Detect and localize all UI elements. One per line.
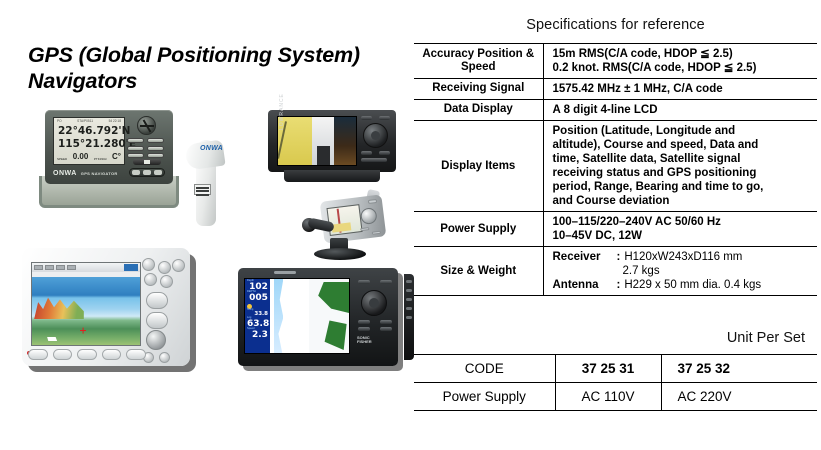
readout-1-value: 005 — [247, 294, 269, 303]
product-image-panel: GPS (Global Positioning System) Navigato… — [0, 0, 410, 450]
lcd-status-right: 54 22:18 — [109, 119, 121, 123]
table-row: Power Supply 100–115/220–240V AC 50/60 H… — [414, 212, 817, 247]
table-row: Data Display A 8 digit 4-line LCD — [414, 100, 817, 121]
mfd-screen — [31, 262, 141, 346]
display-items-line-1: Position (Latitude, Longitude and — [553, 124, 813, 138]
table-row: Receiving Signal 1575.42 MHz ± 1 MHz, C/… — [414, 79, 817, 100]
specifications-heading: Specifications for reference — [410, 17, 821, 33]
spec-value-power-supply: 100–115/220–240V AC 50/60 Hz 10–45V DC, … — [543, 212, 817, 247]
accuracy-line-2: 0.2 knot. RMS(C/A code, HDOP ≦ 2.5) — [553, 61, 813, 75]
receiver-value: H120xW243xD116 mm — [624, 250, 742, 264]
code-value-220v: 37 25 32 — [661, 355, 817, 383]
size-weight-receiver: Receiver : H120xW243xD116 mm — [553, 250, 813, 264]
fishfinder-bezel-tab — [274, 271, 296, 274]
mfd-terrain-relief — [34, 293, 84, 319]
lcd-course-value: C° — [112, 152, 121, 161]
lcd-status-row: PO STA/P0511 54 22:18 — [57, 119, 121, 123]
antenna-colon: : — [615, 278, 625, 292]
display-items-line-2: altitude), Course and speed, Data and — [553, 138, 813, 152]
spec-label-data-display: Data Display — [414, 100, 543, 121]
handheld-rocker-icon — [360, 207, 378, 225]
product-image-multifunction-display — [22, 248, 200, 376]
keypad-slider — [133, 159, 161, 165]
keypad-buttons — [127, 138, 167, 158]
lcd-speed-value: 0.00 — [73, 152, 89, 161]
chartplotter-keypad — [359, 115, 392, 167]
mfd-waypoint-marker-icon — [80, 327, 86, 333]
lcd-bottom-row: SPEED 0.00 PTK330d C° — [57, 152, 121, 161]
readout-4-value: 2.3 — [247, 331, 269, 340]
spec-value-size-weight: Receiver : H120xW243xD116 mm 2.7 kgs Ant… — [543, 247, 817, 296]
spec-label-display-items: Display Items — [414, 121, 543, 212]
size-weight-antenna: Antenna : H229 x 50 mm dia. 0.4 kgs — [553, 278, 813, 292]
spec-label-power-supply: Power Supply — [414, 212, 543, 247]
fishfinder-brand-label: SONICFISHER — [357, 336, 372, 345]
product-image-onwa-gps-receiver: PO STA/P0511 54 22:18 22°46.792'N 115°21… — [33, 108, 185, 213]
receiver-body: PO STA/P0511 54 22:18 22°46.792'N 115°21… — [45, 110, 173, 184]
fishfinder-keypad: SONICFISHER — [353, 276, 393, 360]
antenna-brand-label: ONWA — [200, 145, 223, 152]
mfd-chart-view — [32, 277, 140, 346]
code-value-110v: 37 25 31 — [555, 355, 661, 383]
fishfinder-data-column: Depth 102 DEPTH 005 Temp 33.8 Log 63.8 S… — [245, 279, 270, 353]
dpad-icon — [363, 123, 388, 148]
product-image-chartplotter: LOWRANCE — [268, 110, 396, 188]
chartplotter-base — [284, 170, 380, 182]
spec-value-display-items: Position (Latitude, Longitude and altitu… — [543, 121, 817, 212]
lcd-speed-label: SPEED — [57, 157, 67, 161]
lcd-status-mid: STA/P0511 — [77, 119, 93, 123]
power-supply-110v: AC 110V — [555, 383, 661, 411]
lcd-latitude: 22°46.792'N — [58, 125, 121, 137]
fishfinder-shell: Depth 102 DEPTH 005 Temp 33.8 Log 63.8 S… — [238, 268, 398, 366]
table-row: CODE 37 25 31 37 25 32 — [414, 355, 817, 383]
spec-label-size-weight: Size & Weight — [414, 247, 543, 296]
table-row: Size & Weight Receiver : H120xW243xD116 … — [414, 247, 817, 296]
spec-value-data-display: A 8 digit 4-line LCD — [543, 100, 817, 121]
receiver-weight: 2.7 kgs — [553, 264, 813, 278]
spec-sheet-page: GPS (Global Positioning System) Navigato… — [0, 0, 821, 450]
chartplotter-shell: LOWRANCE — [268, 110, 396, 172]
fishfinder-map-view — [309, 279, 349, 353]
receiver-key: Receiver — [553, 250, 615, 264]
table-row: Accuracy Position & Speed 15m RMS(C/A co… — [414, 44, 817, 79]
receiver-lcd-screen: PO STA/P0511 54 22:18 22°46.792'N 115°21… — [53, 117, 125, 165]
power-supply-line-2: 10–45V DC, 12W — [553, 229, 813, 243]
radar-pane — [312, 117, 334, 165]
antenna-label-plate — [194, 184, 211, 195]
product-image-gps-antenna: ONWA — [180, 140, 228, 228]
display-items-line-3: time, Satellite data, Satellite signal — [553, 152, 813, 166]
mfd-softkey-row — [28, 349, 146, 363]
brand-sublabel: GPS NAVIGATOR — [81, 171, 118, 176]
power-supply-line-1: 100–115/220–240V AC 50/60 Hz — [553, 215, 813, 229]
display-items-line-5: period, Range, Bearing and time to go, — [553, 180, 813, 194]
chartplotter-screen — [277, 116, 357, 166]
sonar-pane — [334, 117, 356, 165]
specifications-table: Accuracy Position & Speed 15m RMS(C/A co… — [414, 43, 817, 296]
fishfinder-sonar-view — [270, 279, 310, 353]
mfd-rotary-dial-icon — [146, 330, 166, 350]
unit-per-set-label: Unit Per Set — [727, 330, 805, 346]
codes-row-label-power-supply: Power Supply — [414, 383, 555, 411]
power-supply-220v: AC 220V — [661, 383, 817, 411]
receiver-brand: ONWA GPS NAVIGATOR — [53, 168, 163, 178]
display-items-line-4: receiving status and GPS positioning — [553, 166, 813, 180]
mfd-shell — [22, 248, 190, 366]
antenna-key: Antenna — [553, 278, 615, 292]
lcd-status-left: PO — [57, 119, 62, 123]
spec-label-receiving-signal: Receiving Signal — [414, 79, 543, 100]
handheld-screen — [326, 204, 362, 236]
lcd-longitude: 115°21.280'E — [58, 138, 121, 150]
table-row: Power Supply AC 110V AC 220V — [414, 383, 817, 411]
handheld-body — [320, 194, 387, 243]
page-title: GPS (Global Positioning System) Navigato… — [28, 42, 398, 94]
rotary-knob-icon — [137, 116, 156, 135]
spec-value-accuracy: 15m RMS(C/A code, HDOP ≦ 2.5) 0.2 knot. … — [543, 44, 817, 79]
antenna-value: H229 x 50 mm dia. 0.4 kgs — [624, 278, 761, 292]
mfd-screen-menubar — [32, 263, 140, 272]
receiver-colon: : — [615, 250, 625, 264]
table-row: Display Items Position (Latitude, Longit… — [414, 121, 817, 212]
product-image-fishfinder: Depth 102 DEPTH 005 Temp 33.8 Log 63.8 S… — [238, 268, 406, 376]
product-image-handheld-gps — [300, 190, 410, 262]
accuracy-line-1: 15m RMS(C/A code, HDOP ≦ 2.5) — [553, 47, 813, 61]
brand-label: ONWA — [53, 170, 77, 177]
specifications-panel: Specifications for reference Accuracy Po… — [410, 0, 821, 450]
mfd-vessel-icon — [47, 337, 57, 341]
lcd-course-label: PTK330d — [94, 157, 107, 161]
spec-value-receiving-signal: 1575.42 MHz ± 1 MHz, C/A code — [543, 79, 817, 100]
codes-row-label-code: CODE — [414, 355, 555, 383]
mount-base — [314, 248, 366, 260]
codes-table: CODE 37 25 31 37 25 32 Power Supply AC 1… — [414, 354, 817, 411]
display-items-line-6: and Course deviation — [553, 194, 813, 208]
fishfinder-dpad-icon — [361, 290, 387, 316]
mfd-side-keypad — [140, 258, 184, 356]
spec-label-accuracy: Accuracy Position & Speed — [414, 44, 543, 79]
fishfinder-screen: Depth 102 DEPTH 005 Temp 33.8 Log 63.8 S… — [244, 278, 350, 354]
chartplotter-brand: LOWRANCE — [279, 93, 285, 130]
